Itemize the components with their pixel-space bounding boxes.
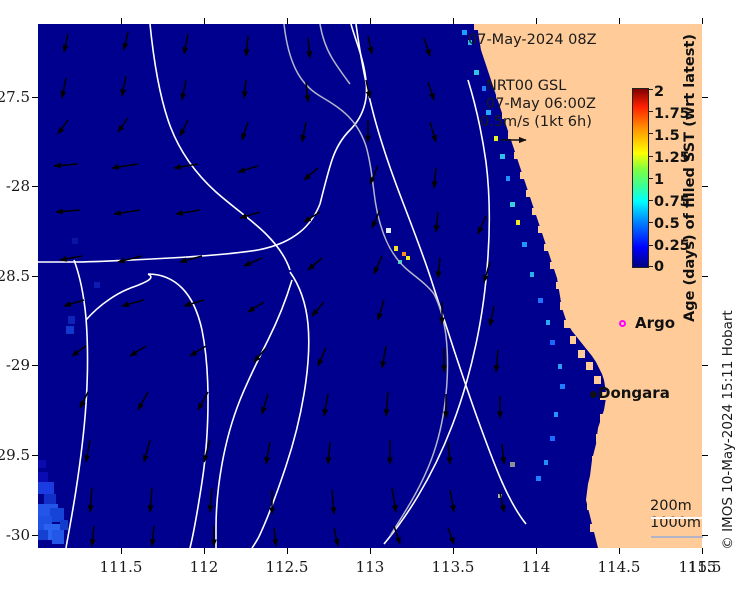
colorbar-ticklabel: 1.5 [654,128,680,144]
ytick--29 [32,365,38,366]
yticklabel: -28.5 [0,267,30,285]
ytick--29.5 [32,455,38,456]
colorbar-title: Age (days) of filled SST (wrt latest) [682,34,698,322]
vector-source-label: NRT00 GSL [486,78,566,94]
xtick-113.5 [453,548,454,554]
xtick-112 [204,548,205,554]
bathy-line-200m-swatch [651,517,703,519]
ytick-right--28 [702,186,708,187]
vector-time-label: 07-May 06:00Z [486,96,596,112]
xtick-113 [370,548,371,554]
ytick--27.5 [32,97,38,98]
ytick-right--29 [702,365,708,366]
xtick-115 [702,548,703,554]
xtick-top-112 [204,18,205,24]
argo-marker-icon[interactable] [619,320,626,327]
yticklabel: -29.5 [0,446,30,464]
xtick-114.5 [619,548,620,554]
colorbar-ticklabel: 0 [654,259,664,275]
xtick-top-112.5 [287,18,288,24]
xtick-112.5 [287,548,288,554]
colorbar-tick [649,178,653,179]
xtick-114 [536,548,537,554]
colorbar-tick [649,222,653,223]
bathymetry-legend: 200m 1000m [650,498,701,531]
ytick--30 [32,535,38,536]
bathy-line-1000m-swatch [651,536,703,538]
colorbar-ticklabel: 2 [654,84,664,100]
dongara-marker-icon[interactable] [590,391,597,398]
colorbar-tick [649,89,653,90]
xtick-top-111.5 [121,18,122,24]
colorbar-tick [649,245,653,246]
vector-scale-label: 0.5m/s (1kt 6h) [480,114,592,130]
xticklabel: 114.5 [598,558,641,576]
argo-label: Argo [635,314,675,332]
ytick-right--27.5 [702,97,708,98]
ytick--28.5 [32,276,38,277]
bathy-label-200m: 200m [650,498,701,515]
xtick-top-113.5 [453,18,454,24]
xticklabel: 113 [356,558,385,576]
xtick-top-113 [370,18,371,24]
map-plot-area[interactable] [38,24,702,548]
xtick-top-114.5 [619,18,620,24]
yticklabel: -28 [6,177,30,195]
colorbar[interactable] [632,88,649,268]
colorbar-ticklabel: 0.5 [654,216,680,232]
colorbar-tick [649,111,653,112]
xticklabel: 111.5 [100,558,143,576]
xticklabel: 113.5 [432,558,475,576]
xticklabel: 112 [190,558,219,576]
datestamp-label: 07-May-2024 08Z [468,32,597,48]
colorbar-ticklabel: 1 [654,172,664,188]
ytick--28 [32,186,38,187]
colorbar-tick [649,266,653,267]
colorbar-tick [649,156,653,157]
ytick-right--28.5 [702,276,708,277]
map-raster-and-overlays [38,24,702,548]
credit-label: © IMOS 10-May-2024 15:11 Hobart [720,310,736,549]
xtick-top-115 [702,18,703,24]
yticklabel: -29 [6,356,30,374]
dongara-label: Dongara [598,384,670,402]
yticklabel: -27.5 [0,88,30,106]
figure-canvas: 111.5 112 112.5 113 113.5 114 114.5 115 … [0,0,740,592]
ytick-right--29.5 [702,455,708,456]
colorbar-tick [649,133,653,134]
colorbar-tick [649,200,653,201]
xticklabel: 112.5 [266,558,309,576]
xticklabel: 115.5 [679,558,722,576]
xticklabel: 114 [522,558,551,576]
vector-reference-arrow-icon [498,134,532,146]
xtick-111.5 [121,548,122,554]
xtick-top-114 [536,18,537,24]
yticklabel: -30 [6,526,30,544]
